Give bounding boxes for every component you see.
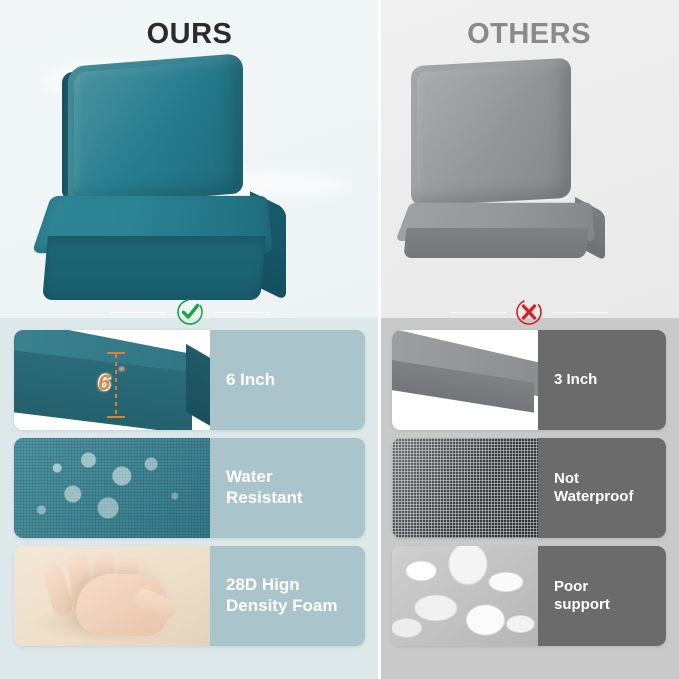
check-circle-icon	[175, 297, 205, 327]
column-divider	[378, 0, 381, 679]
verdict-rule-left	[111, 312, 167, 313]
cushion-back-pillow	[411, 58, 571, 206]
dimension-unit: "	[119, 366, 124, 378]
dark-mesh-fabric-photo	[392, 438, 538, 538]
feature-card-water: Water Resistant	[14, 438, 365, 538]
comparison-infographic: OURS	[0, 0, 679, 679]
feature-label-thickness: 3 Inch	[538, 330, 666, 430]
others-product-photo	[379, 50, 679, 300]
cushion-back-pillow	[68, 53, 243, 207]
feature-label-support: Poor support	[538, 546, 666, 646]
cushion-seat-front	[403, 228, 588, 258]
feature-card-support: Poor support	[392, 546, 666, 646]
ours-column: OURS	[0, 0, 379, 679]
feature-label-water: Not Waterproof	[538, 438, 666, 538]
ours-feature-cards: 6 " 6 Inch Water Resistant	[0, 330, 379, 654]
feature-label-foam: 28D Hign Density Foam	[210, 546, 365, 646]
loose-fiber-fill-photo	[392, 546, 538, 646]
verdict-rule-left	[450, 312, 506, 313]
feature-card-thickness: 6 " 6 Inch	[14, 330, 365, 430]
others-column: OTHERS 3 Inch Not Wat	[379, 0, 679, 679]
water-beading-fabric-photo	[14, 438, 210, 538]
others-verdict-row	[379, 296, 679, 328]
feature-card-foam: 28D Hign Density Foam	[14, 546, 365, 646]
others-header: OTHERS	[379, 18, 679, 51]
ours-header: OURS	[0, 18, 379, 51]
feature-card-thickness: 3 Inch	[392, 330, 666, 430]
x-circle-icon	[514, 297, 544, 327]
ours-verdict-row	[0, 296, 379, 328]
gray-cushion-thickness-photo	[392, 330, 538, 430]
feature-label-thickness: 6 Inch	[210, 330, 365, 430]
ours-product-photo	[0, 50, 379, 300]
others-feature-cards: 3 Inch Not Waterproof Poor support	[379, 330, 679, 654]
cushion-seat-front	[42, 236, 266, 300]
feature-card-water: Not Waterproof	[392, 438, 666, 538]
verdict-rule-right	[213, 312, 269, 313]
hand-pressing-foam-photo	[14, 546, 210, 646]
dimension-value: 6	[98, 370, 110, 396]
teal-cushion-thickness-photo: 6 "	[14, 330, 210, 430]
feature-label-water: Water Resistant	[210, 438, 365, 538]
verdict-rule-right	[552, 312, 608, 313]
